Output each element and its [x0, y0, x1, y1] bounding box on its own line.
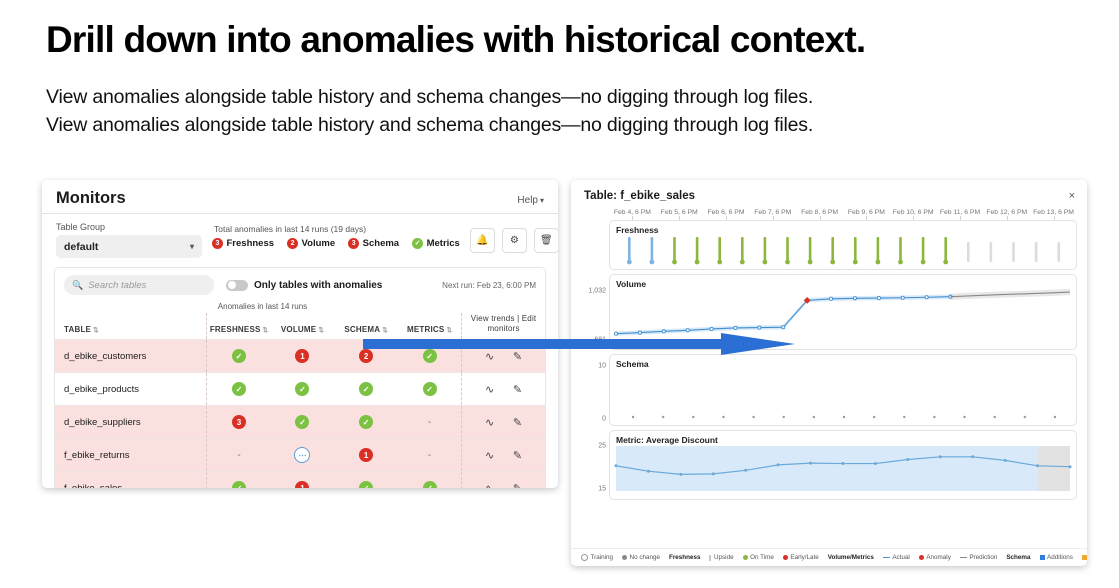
status-empty: - — [428, 450, 431, 461]
help-label: Help — [517, 195, 538, 206]
legend-label: Actual — [892, 554, 910, 561]
axis-tick: Feb 12, 6 PM — [983, 209, 1030, 216]
status-badge-ok — [423, 481, 437, 488]
cell-metrics — [398, 373, 462, 406]
table-group-control: Table Group default ▾ — [56, 222, 202, 258]
legend-training: Training — [581, 554, 613, 561]
upside-icon — [709, 555, 711, 561]
legend-group-label: Freshness — [669, 554, 701, 561]
status-badge-ok — [232, 382, 246, 396]
subheadline-line-2: View anomalies alongside table history a… — [46, 111, 1091, 139]
freshness-chart: Freshness — [609, 220, 1077, 270]
on-time-icon — [743, 555, 748, 560]
status-empty: - — [428, 417, 431, 428]
sort-icon: ⇅ — [263, 327, 269, 334]
legend-group-freshness: Freshness — [669, 554, 701, 561]
additions-icon — [1040, 555, 1045, 560]
axis-tick: Feb 11, 6 PM — [937, 209, 984, 216]
anomalies-subheader: Anomalies in last 14 runs — [55, 302, 545, 311]
total-schema-label: Schema — [363, 238, 399, 249]
volume-y-max: 1,032 — [588, 288, 606, 295]
status-badge-anomaly: 3 — [232, 415, 246, 429]
legend-prediction: Prediction — [960, 554, 998, 561]
check-circle-icon — [412, 238, 423, 249]
schema-count-badge: 3 — [348, 238, 359, 249]
page-subheadline: View anomalies alongside table history a… — [46, 83, 1091, 140]
tables-toolbar: 🔍 Search tables Only tables with anomali… — [55, 268, 545, 301]
status-badge-ok — [232, 349, 246, 363]
legend-label: Prediction — [969, 554, 997, 561]
table-row[interactable]: d_ebike_products ∿ ✎ — [55, 373, 545, 406]
page-title: Monitors — [56, 189, 126, 208]
total-metrics-label: Metrics — [427, 238, 460, 249]
annotation-arrow — [363, 333, 795, 355]
status-badge-ok — [295, 382, 309, 396]
chevron-down-icon: ▾ — [540, 196, 544, 205]
legend-group-schema: Schema — [1006, 554, 1030, 561]
time-axis: Feb 4, 6 PM Feb 5, 6 PM Feb 6, 6 PM Feb … — [571, 206, 1087, 216]
close-icon[interactable]: × — [1069, 190, 1075, 202]
help-menu[interactable]: Help▾ — [517, 195, 544, 208]
status-badge-ok — [359, 382, 373, 396]
totals-row: 3 Freshness 2 Volume 3 Schema Metrics — [212, 238, 460, 249]
legend-label: No change — [630, 554, 660, 561]
subheadline-line-1: View anomalies alongside table history a… — [46, 83, 1091, 111]
cell-volume — [271, 406, 335, 439]
legend-label: Anomaly — [926, 554, 951, 561]
total-volume: 2 Volume — [287, 238, 335, 249]
volume-chart-label: Volume — [616, 279, 646, 289]
search-icon: 🔍 — [72, 280, 83, 291]
prediction-icon — [960, 557, 967, 559]
status-badge-anomaly: 1 — [359, 448, 373, 462]
edit-monitor-icon[interactable]: ✎ — [513, 384, 522, 396]
view-trends-icon[interactable]: ∿ — [485, 483, 494, 489]
cell-schema: 1 — [334, 439, 398, 472]
cell-freshness — [207, 373, 271, 406]
cell-freshness — [207, 340, 271, 373]
deletions-icon — [1082, 555, 1087, 560]
totals-summary: Total anomalies in last 14 runs (19 days… — [212, 222, 460, 249]
row-table-name[interactable]: f_ebike_sales — [55, 472, 207, 489]
status-badge-ok — [232, 481, 246, 488]
schema-chart: Schema 10 0 — [609, 354, 1077, 426]
status-badge-anomaly: 1 — [295, 349, 309, 363]
legend-anomaly: Anomaly — [919, 554, 951, 561]
legend-additions: Additions — [1040, 554, 1073, 561]
legend-on-time: On Time — [743, 554, 774, 561]
axis-tick: Feb 5, 6 PM — [656, 209, 703, 216]
table-row[interactable]: f_ebike_returns - 1 - ∿ ✎ — [55, 439, 545, 472]
status-badge-ok — [359, 481, 373, 488]
legend-label: Early/Late — [790, 554, 818, 561]
axis-tick: Feb 9, 6 PM — [843, 209, 890, 216]
legend-no-change: No change — [622, 554, 660, 561]
schema-chart-label: Schema — [616, 359, 649, 369]
table-row[interactable]: f_ebike_sales 1 ∿ ✎ — [55, 472, 545, 489]
status-badge-ok — [295, 415, 309, 429]
bell-icon[interactable]: 🔔 — [470, 228, 495, 253]
table-detail-panel: Table: f_ebike_sales × Feb 4, 6 PM Feb 5… — [571, 180, 1087, 566]
column-header-volume[interactable]: VOLUME⇅ — [271, 313, 335, 340]
legend-actual: Actual — [883, 554, 910, 561]
search-input[interactable]: 🔍 Search tables — [64, 275, 214, 295]
cell-actions: ∿ ✎ — [462, 406, 545, 439]
cell-schema — [334, 406, 398, 439]
legend-label: Additions — [1047, 554, 1073, 561]
legend-label: On Time — [750, 554, 774, 561]
sort-icon: ⇅ — [318, 327, 324, 334]
totals-label: Total anomalies in last 14 runs (19 days… — [214, 224, 460, 234]
no-change-icon — [622, 555, 627, 560]
row-table-name[interactable]: d_ebike_suppliers — [55, 406, 207, 439]
trash-icon[interactable]: 🗑 — [534, 228, 558, 253]
status-badge-ok — [423, 382, 437, 396]
freshness-count-badge: 3 — [212, 238, 223, 249]
training-icon — [581, 554, 588, 561]
tables-panel: 🔍 Search tables Only tables with anomali… — [54, 267, 546, 488]
edit-monitor-icon[interactable]: ✎ — [513, 450, 522, 462]
metric-y-min: 15 — [598, 486, 606, 493]
cell-volume — [271, 439, 335, 472]
cell-schema — [334, 373, 398, 406]
view-trends-icon[interactable]: ∿ — [485, 384, 494, 396]
col-label-volume: VOLUME — [281, 325, 316, 334]
cell-volume: 1 — [271, 340, 335, 373]
table-group-value: default — [64, 241, 98, 253]
cell-actions: ∿ ✎ — [462, 472, 545, 489]
status-badge-anomaly: 1 — [295, 481, 309, 488]
axis-tick: Feb 8, 6 PM — [796, 209, 843, 216]
axis-tick: Feb 6, 6 PM — [703, 209, 750, 216]
metric-y-max: 25 — [598, 442, 606, 449]
axis-tick: Feb 7, 6 PM — [749, 209, 796, 216]
toggle-switch[interactable] — [226, 280, 248, 291]
legend-early-late: Early/Late — [783, 554, 819, 561]
monitors-action-buttons: 🔔 ⚙ 🗑 — [470, 222, 558, 253]
schema-y-max: 10 — [598, 363, 606, 370]
column-header-table[interactable]: TABLE⇅ — [55, 313, 207, 340]
legend-deletions: Deletions — [1082, 554, 1087, 561]
axis-tick: Feb 13, 6 PM — [1030, 209, 1077, 216]
edit-monitor-icon[interactable]: ✎ — [513, 417, 522, 429]
total-metrics: Metrics — [412, 238, 460, 249]
cell-volume — [271, 373, 335, 406]
status-empty: - — [237, 450, 240, 461]
detail-title: Table: f_ebike_sales — [584, 190, 695, 202]
monitors-toolbar: Table Group default ▾ Total anomalies in… — [42, 214, 558, 264]
gear-icon[interactable]: ⚙ — [502, 228, 527, 253]
early-late-icon — [783, 555, 788, 560]
volume-count-badge: 2 — [287, 238, 298, 249]
legend-group-label: Schema — [1006, 554, 1030, 561]
freshness-chart-label: Freshness — [616, 225, 659, 235]
cell-actions: ∿ ✎ — [462, 439, 545, 472]
page-headline: Drill down into anomalies with historica… — [46, 20, 1086, 60]
next-run-text: Next run: Feb 23, 6:00 PM — [442, 281, 536, 290]
col-label-freshness: FRESHNESS — [210, 325, 261, 334]
sort-icon: ⇅ — [93, 327, 99, 334]
cell-metrics — [398, 472, 462, 489]
chevron-down-icon: ▾ — [190, 242, 194, 251]
metric-chart-label: Metric: Average Discount — [616, 435, 718, 445]
axis-tick: Feb 4, 6 PM — [609, 209, 656, 216]
table-row[interactable]: d_ebike_suppliers 3 - ∿ ✎ — [55, 406, 545, 439]
monitors-table-body: d_ebike_customers 1 2 ∿ ✎ d_ebike_produc… — [55, 340, 545, 489]
view-trends-icon[interactable]: ∿ — [485, 417, 494, 429]
edit-monitor-icon[interactable]: ✎ — [513, 483, 522, 489]
cell-freshness: 3 — [207, 406, 271, 439]
total-freshness-label: Freshness — [227, 238, 275, 249]
schema-y-min: 0 — [602, 416, 606, 423]
row-table-name[interactable]: d_ebike_products — [55, 373, 207, 406]
actual-icon — [883, 557, 890, 559]
table-group-select[interactable]: default ▾ — [56, 235, 202, 258]
total-volume-label: Volume — [302, 238, 336, 249]
axis-tick: Feb 10, 6 PM — [890, 209, 937, 216]
cell-metrics: - — [398, 439, 462, 472]
cell-schema — [334, 472, 398, 489]
toggle-label: Only tables with anomalies — [254, 280, 382, 291]
anomaly-icon — [919, 555, 924, 560]
cell-volume: 1 — [271, 472, 335, 489]
status-badge-pending — [294, 447, 310, 463]
total-freshness: 3 Freshness — [212, 238, 274, 249]
row-table-name[interactable]: f_ebike_returns — [55, 439, 207, 472]
metric-chart: Metric: Average Discount 25 15 — [609, 430, 1077, 500]
view-trends-icon[interactable]: ∿ — [485, 450, 494, 462]
table-group-label: Table Group — [56, 222, 202, 232]
legend-group-label: Volume/Metrics — [828, 554, 874, 561]
anomalies-toggle[interactable]: Only tables with anomalies — [226, 280, 382, 291]
legend-group-volume-metrics: Volume/Metrics — [828, 554, 874, 561]
chart-legend: Training No change Freshness Upside On T… — [571, 548, 1087, 566]
legend-label: Upside — [714, 554, 734, 561]
cell-freshness: - — [207, 439, 271, 472]
legend-label: Training — [591, 554, 614, 561]
row-table-name[interactable]: d_ebike_customers — [55, 340, 207, 373]
status-badge-ok — [359, 415, 373, 429]
total-schema: 3 Schema — [348, 238, 399, 249]
search-placeholder: Search tables — [88, 280, 146, 291]
col-label-table: TABLE — [64, 325, 91, 334]
cell-actions: ∿ ✎ — [462, 373, 545, 406]
monitors-header: Monitors Help▾ — [42, 180, 558, 214]
detail-header: Table: f_ebike_sales × — [571, 180, 1087, 206]
column-header-freshness[interactable]: FRESHNESS⇅ — [207, 313, 271, 340]
cell-freshness — [207, 472, 271, 489]
legend-upside: Upside — [709, 554, 733, 561]
cell-metrics: - — [398, 406, 462, 439]
